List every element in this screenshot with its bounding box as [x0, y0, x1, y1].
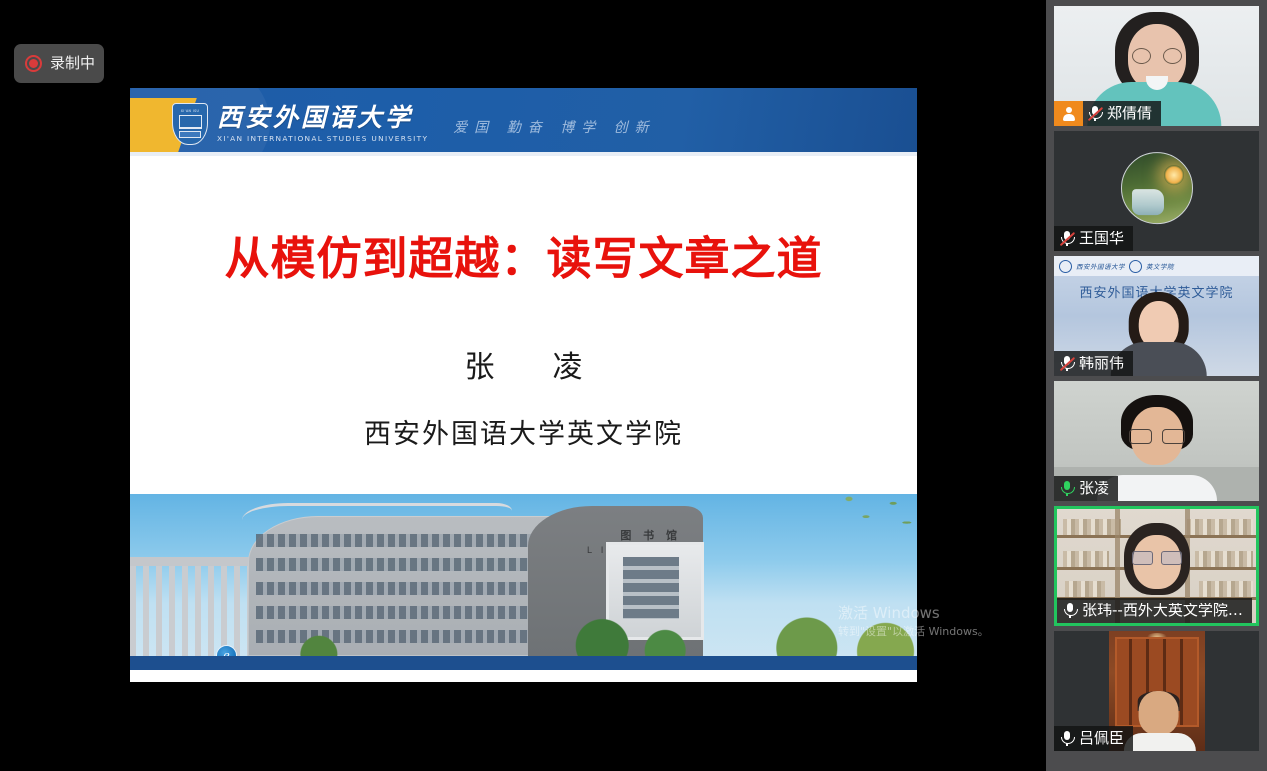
participant-nameplate: 张凌 [1054, 476, 1118, 501]
participant-name: 韩丽伟 [1079, 356, 1124, 371]
slide-university-name-en: XI'AN INTERNATIONAL STUDIES UNIVERSITY [217, 134, 428, 143]
avatar [1121, 152, 1193, 224]
microphone-on-icon [1063, 603, 1077, 619]
participant-nameplate: 王国华 [1054, 226, 1133, 251]
university-shield-icon: XI'AN ISU [172, 103, 208, 145]
participant-tile-hanliwei[interactable]: 西安外国语大学英文学院 西安外国语大学英文学院 教学 韩丽伟 [1054, 256, 1259, 376]
participant-tile-zhangwei[interactable]: 张玮--西外大英文学院… [1054, 506, 1259, 626]
host-badge [1054, 101, 1083, 126]
slide-header-band: XI'AN ISU 西安外国语大学 XI'AN INTERNATIONAL ST… [130, 88, 917, 152]
slide-body: 从模仿到超越：读写文章之道 张 凌 西安外国语大学英文学院 [130, 156, 917, 494]
slide-presenter-name: 张 凌 [451, 353, 597, 383]
participant-name: 王国华 [1079, 231, 1124, 246]
participant-filmstrip[interactable]: 郑倩倩 王国华 西安外国语大学英文学院 西安外国语大学英文学院 教学 [1046, 0, 1267, 771]
presentation-slide: XI'AN ISU 西安外国语大学 XI'AN INTERNATIONAL ST… [130, 88, 917, 682]
participant-name: 张凌 [1079, 481, 1109, 496]
slide-title: 从模仿到超越：读写文章之道 [224, 236, 822, 281]
participant-tile-zhengqianqian[interactable]: 郑倩倩 [1054, 6, 1259, 126]
slide-footer-bar [130, 656, 917, 670]
trees [130, 612, 917, 660]
shared-screen-stage[interactable]: 录制中 XI'AN ISU 西安外国语大学 XI'AN INTERNATIONA… [0, 0, 1046, 771]
participant-nameplate: 韩丽伟 [1054, 351, 1133, 376]
slide-university-name-cn: 西安外国语大学 [217, 105, 428, 131]
participant-nameplate: 吕佩臣 [1054, 726, 1133, 751]
participant-name: 郑倩倩 [1107, 106, 1152, 121]
recording-label: 录制中 [50, 56, 95, 71]
participant-tile-wangguohua[interactable]: 王国华 [1054, 131, 1259, 251]
microphone-on-icon [1060, 731, 1074, 747]
participant-tile-zhangling[interactable]: 张凌 [1054, 381, 1259, 501]
slide-university-motto: 爱国 勤奋 博学 创新 [453, 117, 655, 137]
willow-branches [747, 494, 917, 564]
participant-tile-lvpeichen[interactable]: 吕佩臣 [1054, 631, 1259, 751]
slide-campus-photo: 图 书 馆 L I B R A R Y e [130, 494, 917, 670]
participant-nameplate: 张玮--西外大英文学院… [1057, 598, 1252, 623]
microphone-muted-icon [1060, 356, 1074, 372]
recording-indicator: 录制中 [14, 44, 104, 83]
microphone-on-icon [1060, 481, 1074, 497]
participant-name: 张玮--西外大英文学院… [1082, 603, 1243, 618]
record-dot-icon [25, 55, 42, 72]
participant-name: 吕佩臣 [1079, 731, 1124, 746]
slide-affiliation: 西安外国语大学英文学院 [364, 421, 683, 448]
microphone-muted-icon [1088, 106, 1102, 122]
microphone-muted-icon [1060, 231, 1074, 247]
